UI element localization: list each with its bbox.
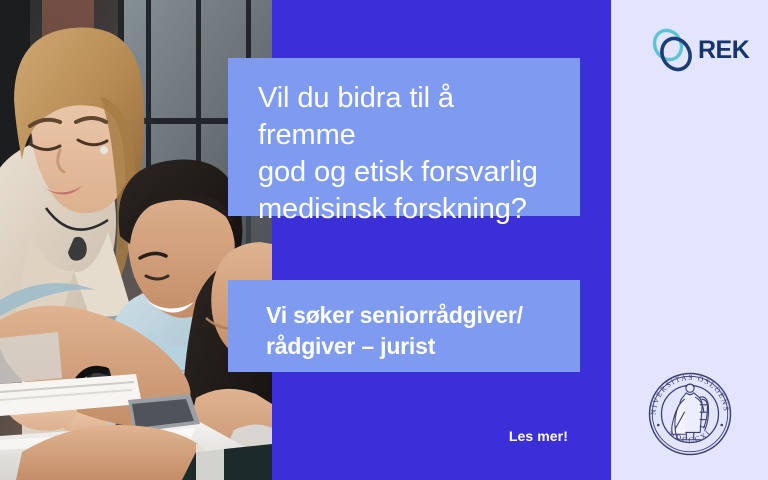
headline-panel: Vil du bidra til å fremme god og etisk f… bbox=[228, 58, 580, 216]
role-panel: Vi søker seniorrådgiver/ rådgiver – juri… bbox=[228, 280, 580, 372]
uio-seal-logo[interactable]: UNIVERSITAS OSLOENSIS MDCCCXI bbox=[644, 368, 736, 460]
job-advert-banner: Vil du bidra til å fremme god og etisk f… bbox=[0, 0, 768, 480]
headline-line-3: medisinsk forskning? bbox=[258, 191, 554, 228]
rek-wordmark: REK bbox=[698, 38, 749, 63]
headline-line-1: Vil du bidra til å fremme bbox=[258, 80, 554, 154]
role-line-1: Vi søker seniorrådgiver/ bbox=[266, 300, 562, 331]
rek-rings-icon bbox=[650, 28, 696, 72]
headline-line-2: god og etisk forsvarlig bbox=[258, 154, 554, 191]
read-more-link[interactable]: Les mer! bbox=[380, 428, 568, 444]
rek-logo[interactable]: REK bbox=[650, 26, 746, 74]
role-line-2: rådgiver – jurist bbox=[266, 331, 562, 362]
